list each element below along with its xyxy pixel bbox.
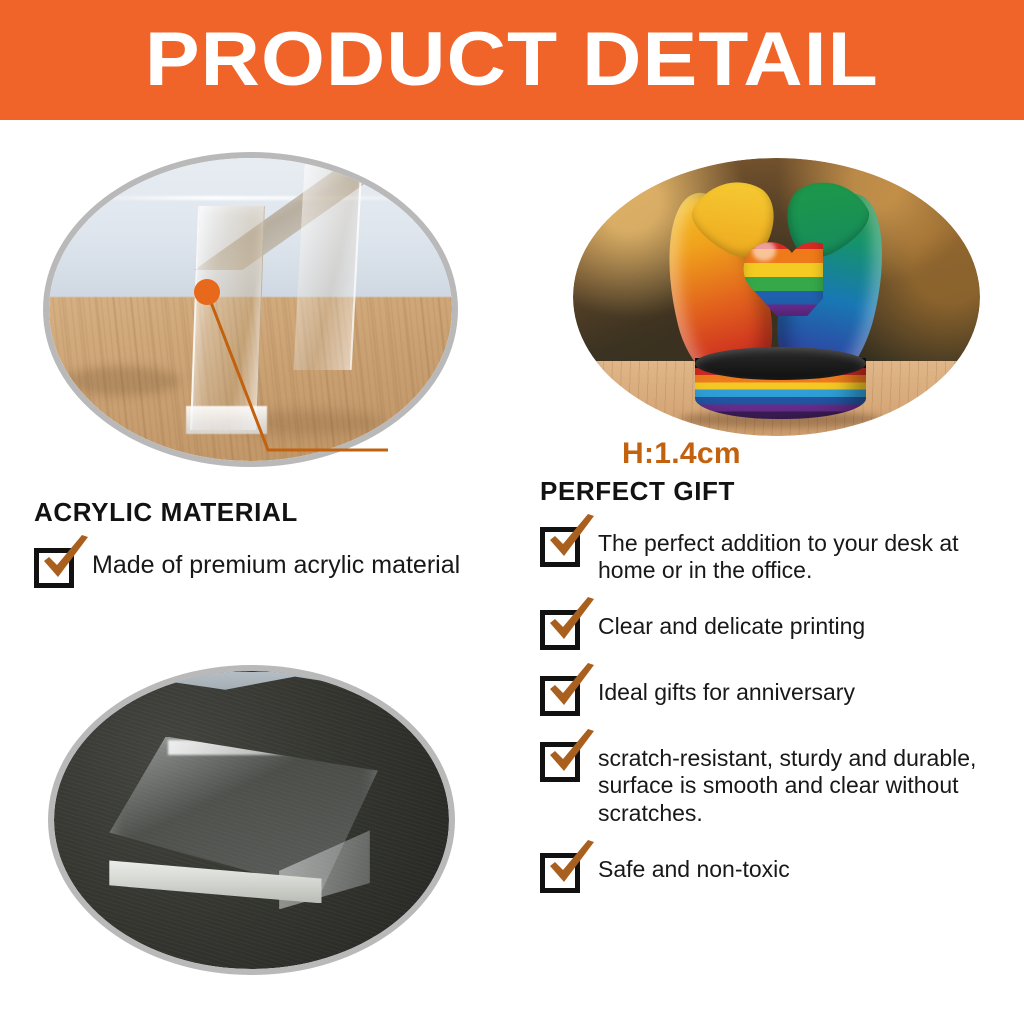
list-item: scratch-resistant, sturdy and durable, s… bbox=[540, 740, 1010, 826]
list-item: Safe and non-toxic bbox=[540, 851, 1010, 893]
list-item: Clear and delicate printing bbox=[540, 608, 1010, 650]
height-callout-label: H:1.4cm bbox=[622, 437, 741, 471]
checkmark-icon bbox=[544, 840, 600, 892]
checkbox-checked-icon bbox=[540, 610, 580, 650]
checkbox-checked-icon bbox=[540, 527, 580, 567]
checkmark-icon bbox=[544, 663, 600, 715]
list-item: Ideal gifts for anniversary bbox=[540, 674, 1010, 716]
list-item: The perfect addition to your desk at hom… bbox=[540, 525, 1010, 584]
list-item-label: Made of premium acrylic material bbox=[92, 546, 460, 581]
acrylic-block-edge-photo bbox=[43, 152, 458, 467]
acrylic-back-face bbox=[293, 164, 362, 370]
list-item-label: Clear and delicate printing bbox=[598, 608, 865, 640]
perfect-gift-section: PERFECT GIFT The perfect addition to you… bbox=[540, 476, 1010, 893]
acrylic-block-flat-photo bbox=[48, 665, 455, 975]
gift-feature-list: The perfect addition to your desk at hom… bbox=[540, 525, 1010, 893]
product-detail-page: PRODUCT DETAIL bbox=[0, 0, 1024, 1024]
checkbox-checked-icon bbox=[540, 742, 580, 782]
checkmark-icon bbox=[544, 514, 600, 566]
photo-scene bbox=[49, 158, 452, 461]
checkbox-checked-icon bbox=[540, 853, 580, 893]
list-item: Made of premium acrylic material bbox=[34, 546, 534, 588]
acrylic-feature-list: Made of premium acrylic material bbox=[34, 546, 534, 588]
photo-scene bbox=[54, 671, 449, 969]
page-title: PRODUCT DETAIL bbox=[145, 22, 879, 98]
acrylic-material-section: ACRYLIC MATERIAL Made of premium acrylic… bbox=[34, 497, 534, 588]
checkmark-icon bbox=[38, 535, 94, 587]
list-item-label: Safe and non-toxic bbox=[598, 851, 790, 883]
acrylic-front-face bbox=[190, 206, 265, 430]
section-heading-gift: PERFECT GIFT bbox=[540, 476, 1010, 507]
rainbow-hands-heart-photo bbox=[573, 158, 980, 436]
checkbox-checked-icon bbox=[540, 676, 580, 716]
checkmark-icon bbox=[544, 729, 600, 781]
checkbox-checked-icon bbox=[34, 548, 74, 588]
section-heading-acrylic: ACRYLIC MATERIAL bbox=[34, 497, 534, 528]
header-banner: PRODUCT DETAIL bbox=[0, 0, 1024, 120]
list-item-label: The perfect addition to your desk at hom… bbox=[598, 525, 1010, 584]
photo-scene bbox=[573, 158, 980, 436]
list-item-label: Ideal gifts for anniversary bbox=[598, 674, 855, 706]
checkmark-icon bbox=[544, 597, 600, 649]
list-item-label: scratch-resistant, sturdy and durable, s… bbox=[598, 740, 1010, 826]
acrylic-base-highlight bbox=[186, 406, 267, 433]
